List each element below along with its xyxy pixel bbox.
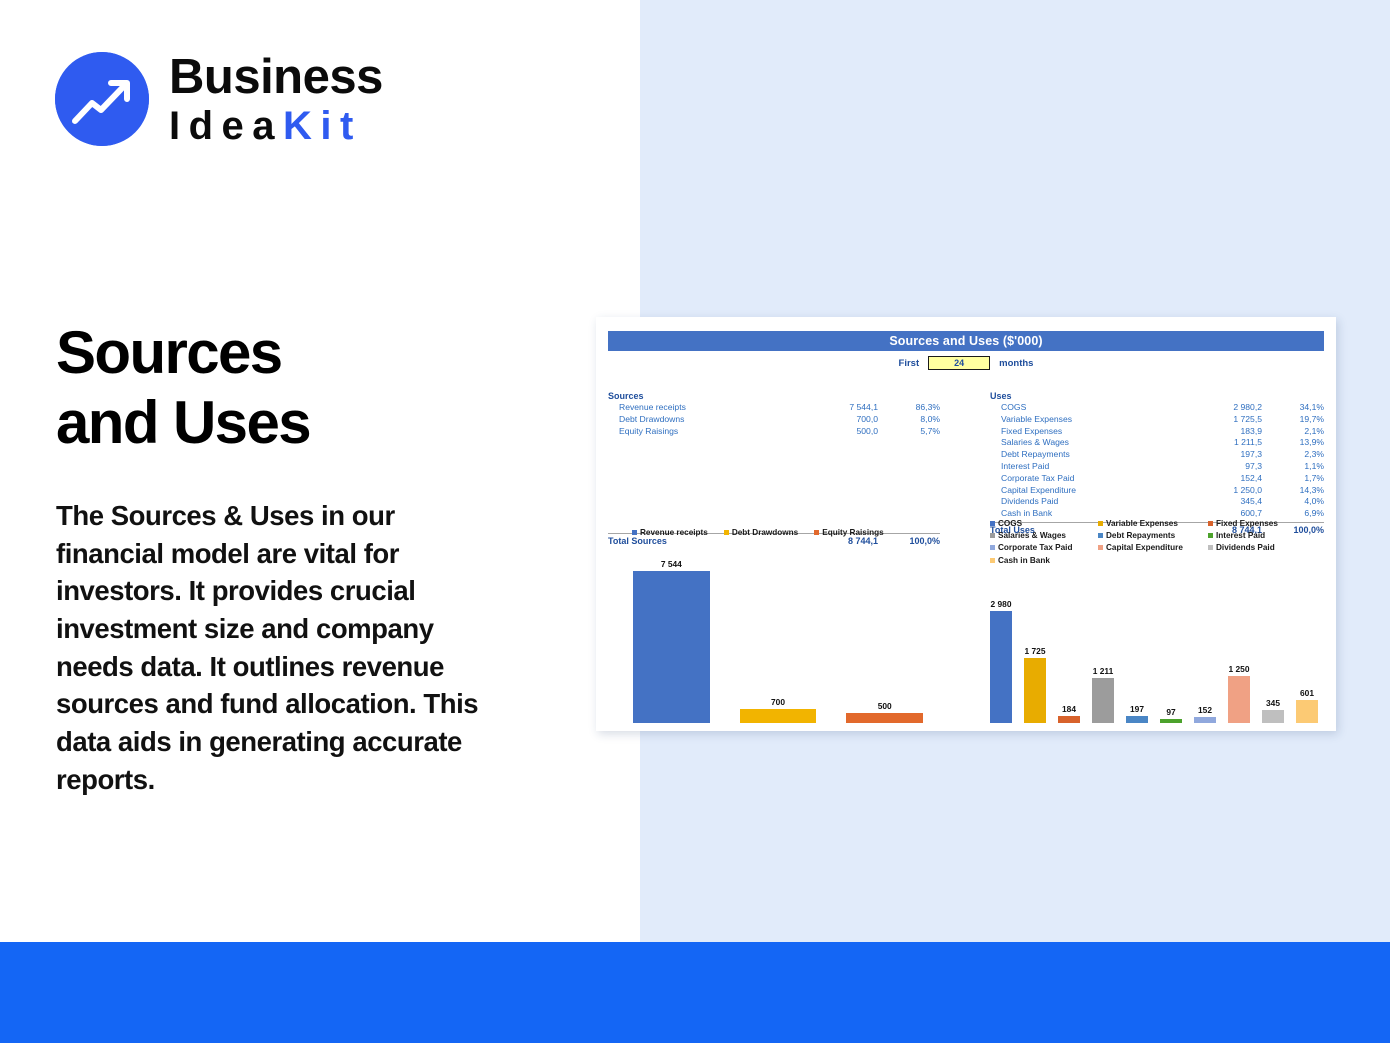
bar-value-label: 500 [878,701,892,711]
bar-value-label: 1 250 [1229,664,1250,674]
bar[interactable] [1092,678,1114,724]
sources-row-value: 700,0 [792,414,878,424]
legend-label: Cash in Bank [998,556,1050,565]
sources-table-header: Sources [608,391,940,402]
bar[interactable] [1262,710,1284,723]
bar-slot: 7 544 [618,553,725,723]
sources-row-pct: 5,7% [878,426,940,436]
legend-swatch-icon [990,558,995,563]
footer-accent-bar [0,942,1390,1043]
uses-bar-chart: 2 9801 7251841 211197971521 250345601 [984,588,1324,723]
bar[interactable] [846,713,923,723]
bar-value-label: 1 725 [1025,646,1046,656]
table-row: Capital Expenditure1 250,014,3% [990,485,1324,497]
period-prefix-label: First [899,358,920,369]
legend-label: Revenue receipts [640,528,708,537]
sources-and-uses-sheet: Sources and Uses ($'000) First 24 months… [596,317,1336,731]
uses-row-value: 152,4 [1176,473,1262,483]
uses-row-pct: 1,1% [1262,461,1324,471]
page-title: Sources and Uses [56,318,576,457]
uses-row-value: 97,3 [1176,461,1262,471]
legend-item[interactable]: Equity Raisings [814,528,883,537]
sources-row-value: 500,0 [792,426,878,436]
sources-total-label: Total Sources [608,536,792,546]
uses-row-label: Dividends Paid [990,496,1176,506]
uses-row-label: Capital Expenditure [990,485,1176,495]
uses-row-pct: 4,0% [1262,496,1324,506]
bar-value-label: 184 [1062,704,1076,714]
legend-item[interactable]: Salaries & Wages [990,531,1098,540]
bar[interactable] [1296,700,1318,723]
legend-item[interactable]: Corporate Tax Paid [990,543,1098,552]
uses-row-pct: 1,7% [1262,473,1324,483]
legend-label: Interest Paid [1216,531,1265,540]
uses-table-header: Uses [990,391,1324,402]
legend-swatch-icon [990,521,995,526]
uses-row-label: Interest Paid [990,461,1176,471]
bar-slot: 500 [831,553,938,723]
legend-swatch-icon [990,533,995,538]
legend-swatch-icon [724,530,729,535]
uses-row-value: 2 980,2 [1176,402,1262,412]
bar-value-label: 601 [1300,688,1314,698]
uses-row-pct: 14,3% [1262,485,1324,495]
bar-slot: 345 [1256,588,1290,723]
sources-chart-legend: Revenue receiptsDebt DrawdownsEquity Rai… [632,528,932,537]
uses-row-value: 345,4 [1176,496,1262,506]
table-row: Debt Drawdowns700,08,0% [608,414,940,426]
sources-row-label: Debt Drawdowns [608,414,792,424]
brand-line-business: Business [169,53,383,102]
legend-swatch-icon [1208,521,1213,526]
legend-swatch-icon [1208,533,1213,538]
table-row: COGS2 980,234,1% [990,402,1324,414]
legend-label: Capital Expenditure [1106,543,1183,552]
uses-row-pct: 19,7% [1262,414,1324,424]
brand-logo: Business IdeaKit [55,52,383,146]
bar[interactable] [1160,719,1182,723]
legend-swatch-icon [990,545,995,550]
bar-slot: 1 250 [1222,588,1256,723]
legend-item[interactable]: Debt Drawdowns [724,528,798,537]
table-row: Equity Raisings500,05,7% [608,426,940,438]
legend-item[interactable]: Interest Paid [1208,531,1308,540]
uses-row-pct: 2,3% [1262,449,1324,459]
bar-slot: 700 [725,553,832,723]
sheet-title: Sources and Uses ($'000) [608,331,1324,351]
legend-item[interactable]: Dividends Paid [1208,543,1308,552]
sources-row-label: Equity Raisings [608,426,792,436]
brand-word-idea: Idea [169,104,283,148]
sources-total-pct: 100,0% [878,536,940,546]
uses-row-value: 1 250,0 [1176,485,1262,495]
legend-item[interactable]: Debt Repayments [1098,531,1208,540]
page-description: The Sources & Uses in our financial mode… [56,497,506,798]
sources-row-label: Revenue receipts [608,402,792,412]
legend-label: Dividends Paid [1216,543,1275,552]
legend-label: COGS [998,519,1022,528]
bar-slot: 1 211 [1086,588,1120,723]
bar-value-label: 345 [1266,698,1280,708]
uses-row-value: 600,7 [1176,508,1262,518]
bar-value-label: 7 544 [661,559,682,569]
brand-word-kit: Kit [283,104,362,148]
brand-line-ideakit: IdeaKit [169,106,383,146]
legend-label: Fixed Expenses [1216,519,1278,528]
sources-table: Sources Revenue receipts7 544,186,3%Debt… [608,391,940,548]
uses-row-label: Variable Expenses [990,414,1176,424]
growth-arrow-icon [55,52,149,146]
table-row: Salaries & Wages1 211,513,9% [990,437,1324,449]
legend-label: Variable Expenses [1106,519,1178,528]
uses-row-pct: 34,1% [1262,402,1324,412]
uses-row-pct: 13,9% [1262,437,1324,447]
bar[interactable] [1126,716,1148,723]
uses-row-label: Corporate Tax Paid [990,473,1176,483]
legend-label: Corporate Tax Paid [998,543,1072,552]
table-row: Corporate Tax Paid152,41,7% [990,473,1324,485]
legend-swatch-icon [632,530,637,535]
table-row: Variable Expenses1 725,519,7% [990,414,1324,426]
bar[interactable] [633,571,710,723]
sources-row-pct: 86,3% [878,402,940,412]
legend-label: Debt Repayments [1106,531,1175,540]
table-row: Interest Paid97,31,1% [990,461,1324,473]
bar[interactable] [1228,676,1250,723]
table-row: Dividends Paid345,44,0% [990,496,1324,508]
sources-total-value: 8 744,1 [792,536,878,546]
uses-row-value: 183,9 [1176,426,1262,436]
uses-row-pct: 6,9% [1262,508,1324,518]
table-row: Revenue receipts7 544,186,3% [608,402,940,414]
table-row: Fixed Expenses183,92,1% [990,426,1324,438]
legend-label: Salaries & Wages [998,531,1066,540]
bar-value-label: 97 [1166,707,1175,717]
bar-slot: 97 [1154,588,1188,723]
uses-row-label: Debt Repayments [990,449,1176,459]
legend-item[interactable]: Variable Expenses [1098,519,1208,528]
legend-item[interactable]: COGS [990,519,1098,528]
uses-row-label: Salaries & Wages [990,437,1176,447]
bar-value-label: 152 [1198,705,1212,715]
uses-row-value: 197,3 [1176,449,1262,459]
bar[interactable] [1024,658,1046,723]
bar-slot: 601 [1290,588,1324,723]
bar-slot: 152 [1188,588,1222,723]
brand-wordmark: Business IdeaKit [169,53,383,146]
bar-slot: 184 [1052,588,1086,723]
table-row: Debt Repayments197,32,3% [990,449,1324,461]
bar[interactable] [1058,716,1080,723]
period-suffix-label: months [999,358,1033,369]
uses-table: Uses COGS2 980,234,1%Variable Expenses1 … [990,391,1324,537]
legend-item[interactable]: Revenue receipts [632,528,708,537]
bar-value-label: 2 980 [991,599,1012,609]
legend-swatch-icon [1208,545,1213,550]
legend-item[interactable]: Fixed Expenses [1208,519,1308,528]
period-selector: First 24 months [596,356,1336,370]
bar[interactable] [990,611,1012,723]
sources-row-value: 7 544,1 [792,402,878,412]
uses-row-label: Fixed Expenses [990,426,1176,436]
uses-row-label: Cash in Bank [990,508,1176,518]
bar-value-label: 197 [1130,704,1144,714]
legend-item[interactable]: Capital Expenditure [1098,543,1208,552]
bar-value-label: 1 211 [1093,666,1114,676]
legend-swatch-icon [1098,545,1103,550]
bar[interactable] [1194,717,1216,723]
legend-swatch-icon [1098,533,1103,538]
bar-slot: 2 980 [984,588,1018,723]
legend-item[interactable]: Cash in Bank [990,556,1098,565]
bar-value-label: 700 [771,697,785,707]
uses-row-label: COGS [990,402,1176,412]
uses-row-value: 1 211,5 [1176,437,1262,447]
bar-slot: 197 [1120,588,1154,723]
legend-swatch-icon [814,530,819,535]
slide-canvas: Business IdeaKit Sources and Uses The So… [0,0,1390,1043]
sources-bar-chart: 7 544700500 [618,553,938,723]
uses-row-value: 1 725,5 [1176,414,1262,424]
uses-row-pct: 2,1% [1262,426,1324,436]
legend-label: Debt Drawdowns [732,528,798,537]
uses-chart-legend: COGSVariable ExpensesFixed ExpensesSalar… [990,519,1310,565]
months-input[interactable]: 24 [928,356,990,370]
sources-row-pct: 8,0% [878,414,940,424]
bar[interactable] [740,709,817,723]
legend-swatch-icon [1098,521,1103,526]
legend-label: Equity Raisings [822,528,883,537]
bar-slot: 1 725 [1018,588,1052,723]
